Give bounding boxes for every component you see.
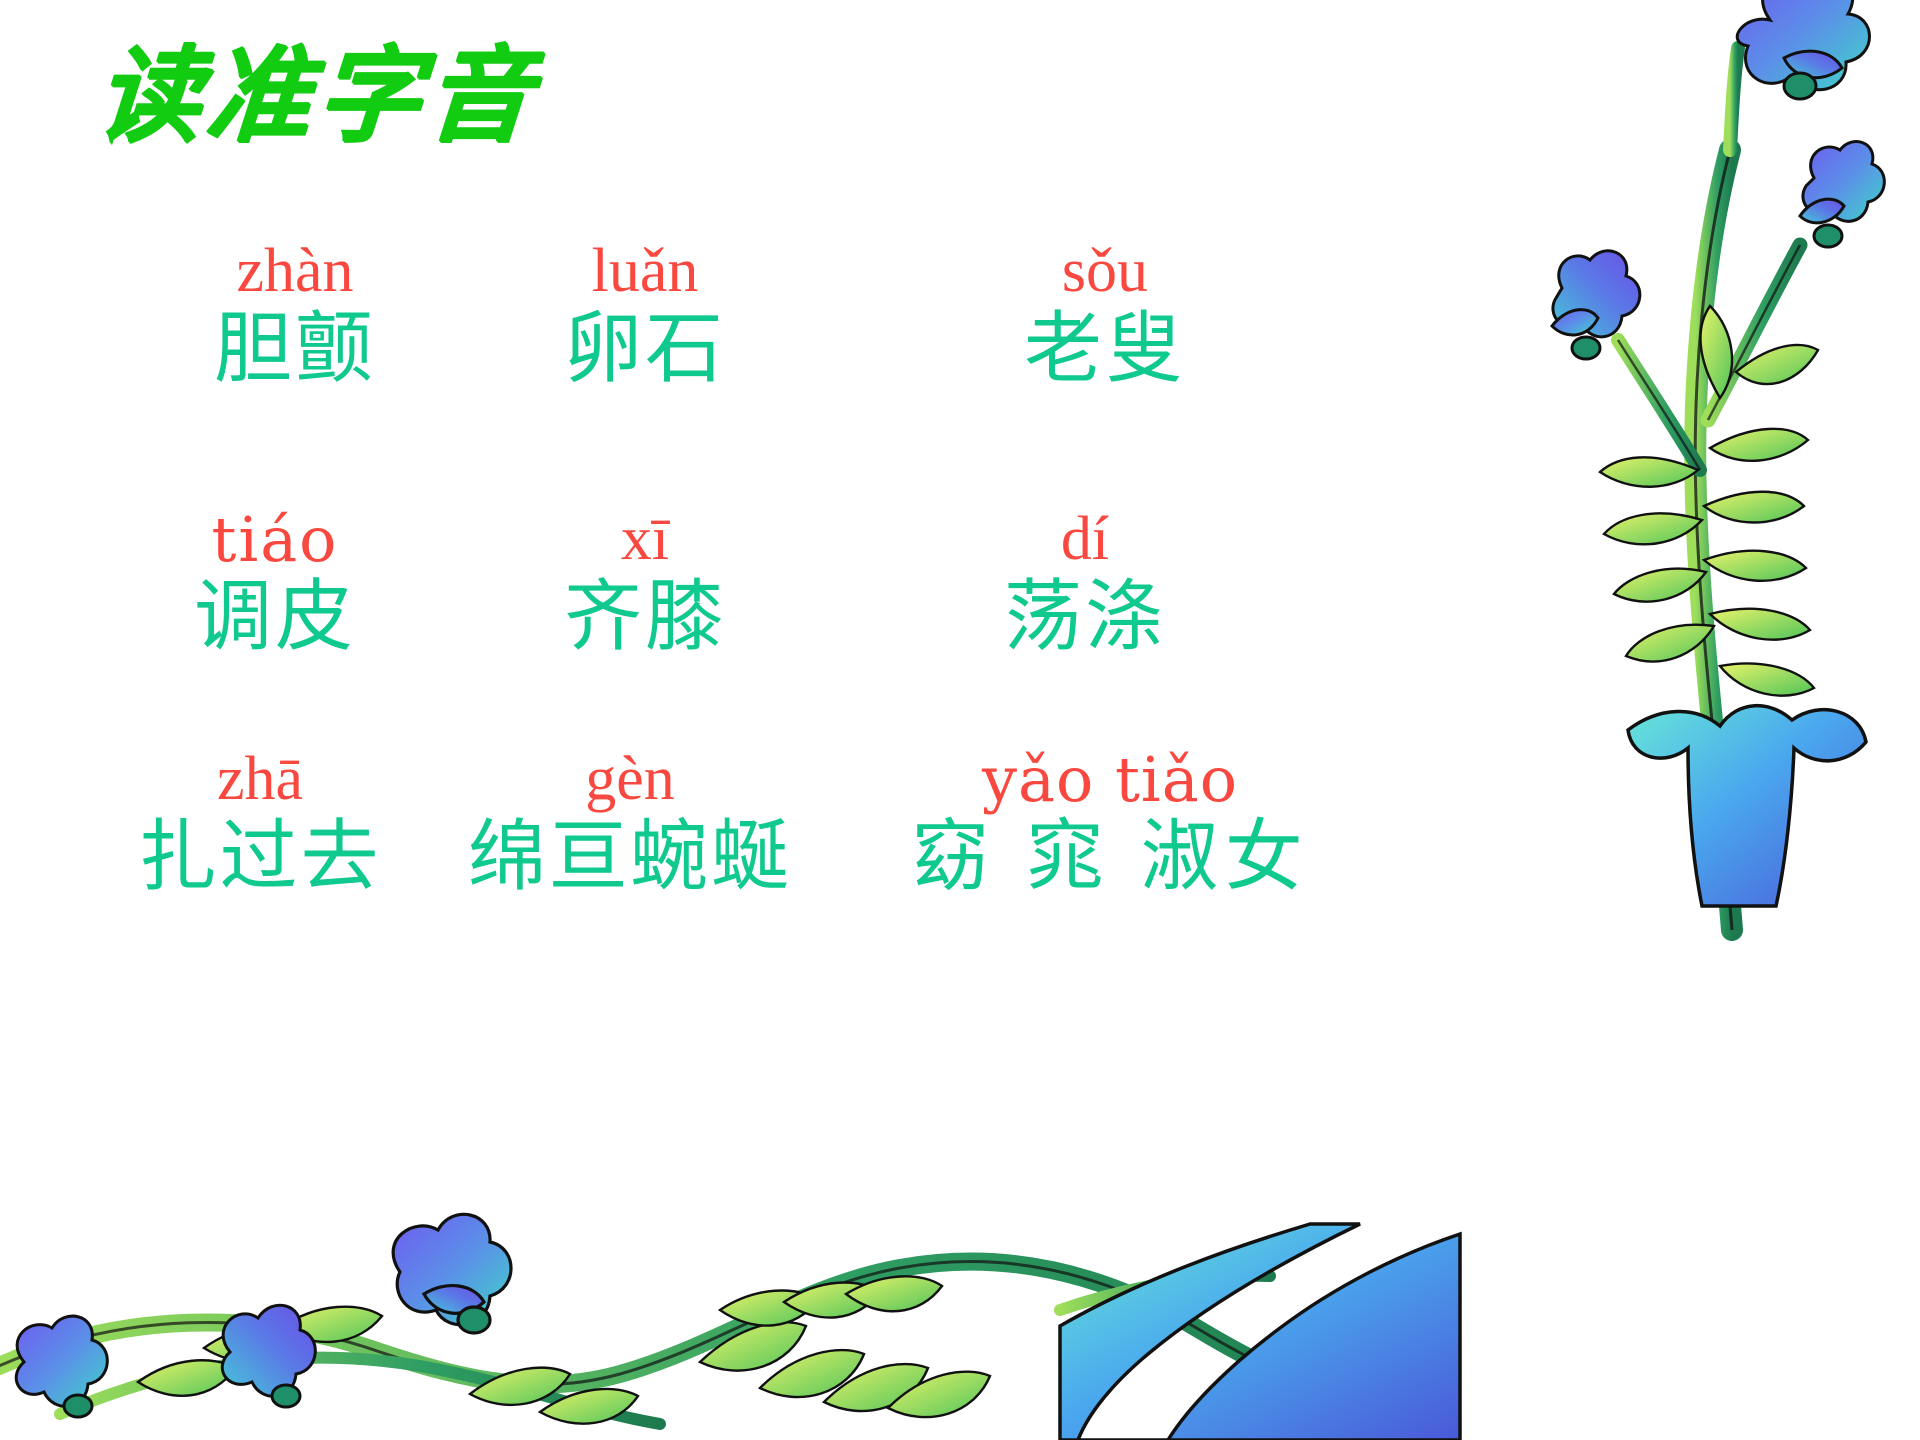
vocabulary-item: tiáo 调皮	[100, 508, 450, 663]
hanzi-word: 窈 窕 淑女	[850, 811, 1370, 903]
vocabulary-row: zhàn 胆颤 luǎn 卵石 sǒu 老叟	[90, 240, 1340, 440]
hanzi-word: 调皮	[100, 571, 450, 663]
vocabulary-item: zhàn 胆颤	[120, 240, 470, 395]
pinyin-label: xī	[480, 508, 810, 571]
hanzi-word: 绵亘蜿蜒	[420, 811, 840, 903]
pinyin-label: luǎn	[480, 240, 810, 303]
vocabulary-item: sǒu 老叟	[930, 240, 1280, 395]
flower-vine-decoration-bottom	[0, 1010, 1500, 1440]
hanzi-word: 卵石	[480, 303, 810, 395]
hanzi-word: 扎过去	[80, 811, 440, 903]
flower-vine-decoration-right	[1300, 0, 1920, 1000]
pinyin-label: sǒu	[930, 240, 1280, 303]
vocabulary-item: xī 齐膝	[480, 508, 810, 663]
vocabulary-item: gèn 绵亘蜿蜒	[420, 748, 840, 903]
pinyin-label: tiáo	[100, 508, 450, 571]
vocabulary-row: zhā 扎过去 gèn 绵亘蜿蜒 yǎo tiǎo 窈 窕 淑女	[90, 748, 1340, 948]
pinyin-label: gèn	[420, 748, 840, 811]
vocabulary-item: dí 荡涤	[910, 508, 1260, 663]
hanzi-word: 老叟	[930, 303, 1280, 395]
hanzi-word: 荡涤	[910, 571, 1260, 663]
slide-canvas: 读准字音 zhàn 胆颤 luǎn 卵石 sǒu 老叟 tiáo 调皮	[0, 0, 1920, 1440]
pinyin-label: dí	[910, 508, 1260, 571]
pinyin-label: zhā	[80, 748, 440, 811]
hanzi-word: 齐膝	[480, 571, 810, 663]
vocabulary-item: luǎn 卵石	[480, 240, 810, 395]
vocabulary-grid: zhàn 胆颤 luǎn 卵石 sǒu 老叟 tiáo 调皮 xī 齐膝	[90, 240, 1340, 920]
page-title: 读准字音	[92, 36, 540, 156]
pinyin-label: zhàn	[120, 240, 470, 303]
vocabulary-item: yǎo tiǎo 窈 窕 淑女	[850, 748, 1370, 903]
pinyin-label: yǎo tiǎo	[850, 748, 1370, 811]
vocabulary-item: zhā 扎过去	[80, 748, 440, 903]
vocabulary-row: tiáo 调皮 xī 齐膝 dí 荡涤	[90, 508, 1340, 708]
hanzi-word: 胆颤	[120, 303, 470, 395]
